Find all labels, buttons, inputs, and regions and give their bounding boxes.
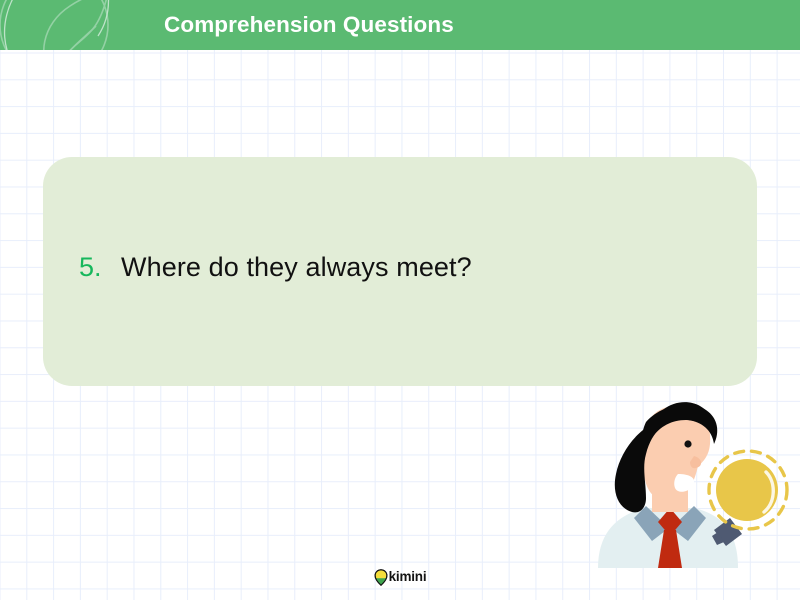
question-row: 5. Where do they always meet? [79,252,472,283]
footer-brand-name: kimini [389,570,427,584]
thinking-man-with-lightbulb-illustration [590,378,800,568]
kimini-balloon-icon [374,569,388,586]
footer-brand-logo: kimini [0,566,800,588]
lightbulb-bulb-shape [716,459,778,521]
eye-shape [684,440,691,447]
page-title: Comprehension Questions [164,0,454,50]
header-bar: Comprehension Questions [0,0,800,50]
question-number: 5. [79,252,121,283]
kimini-g-leaf-monogram-icon [0,0,122,50]
question-text: Where do they always meet? [121,252,472,283]
slide-root: Comprehension Questions 5. Where do they… [0,0,800,600]
question-card: 5. Where do they always meet? [43,157,757,386]
